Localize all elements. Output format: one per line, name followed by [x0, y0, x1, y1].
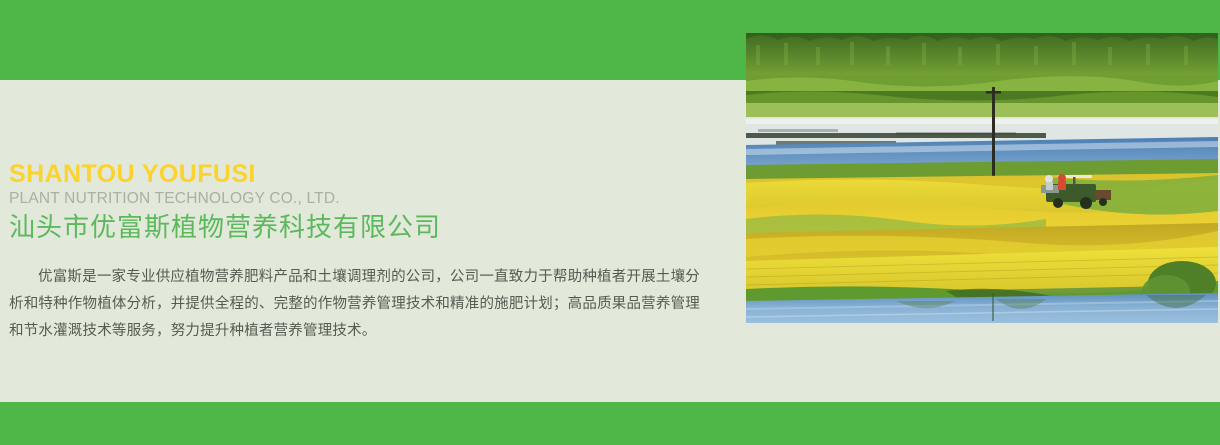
company-intro-block: SHANTOU YOUFUSI PLANT NUTRITION TECHNOLO… — [0, 160, 720, 345]
about-paragraph: 优富斯是一家专业供应植物营养肥料产品和土壤调理剂的公司，公司一直致力于帮助种植者… — [0, 264, 700, 345]
company-profile-page: SHANTOU YOUFUSI PLANT NUTRITION TECHNOLO… — [0, 0, 1220, 445]
brand-name-english: SHANTOU YOUFUSI — [0, 160, 720, 188]
brand-name-chinese: 汕头市优富斯植物营养科技有限公司 — [0, 210, 720, 244]
bottom-green-band — [0, 402, 1220, 445]
brand-tagline-english: PLANT NUTRITION TECHNOLOGY CO., LTD. — [0, 188, 720, 210]
farm-landscape-photo — [746, 33, 1218, 323]
farm-landscape-illustration — [746, 33, 1218, 323]
